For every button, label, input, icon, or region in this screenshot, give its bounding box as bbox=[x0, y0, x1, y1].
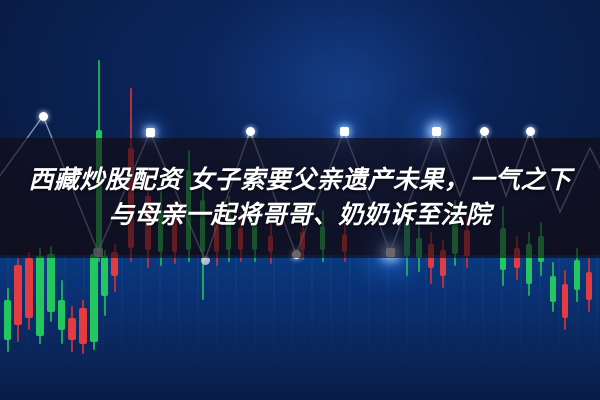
trend-node bbox=[526, 127, 535, 136]
trend-node bbox=[480, 127, 489, 136]
trend-node bbox=[340, 127, 349, 136]
banner-image: 西藏炒股配资 女子索要父亲遗产未果，一气之下 与母亲一起将哥哥、奶奶诉至法院 bbox=[0, 0, 600, 400]
trend-node bbox=[432, 127, 441, 136]
headline-line-1: 西藏炒股配资 女子索要父亲遗产未果，一气之下 bbox=[29, 166, 572, 196]
headline-line-2: 与母亲一起将哥哥、奶奶诉至法院 bbox=[109, 201, 492, 231]
trend-node bbox=[246, 127, 255, 136]
trend-node bbox=[39, 112, 48, 121]
trend-node bbox=[146, 128, 155, 137]
headline-block: 西藏炒股配资 女子索要父亲遗产未果，一气之下 与母亲一起将哥哥、奶奶诉至法院 bbox=[0, 138, 600, 258]
